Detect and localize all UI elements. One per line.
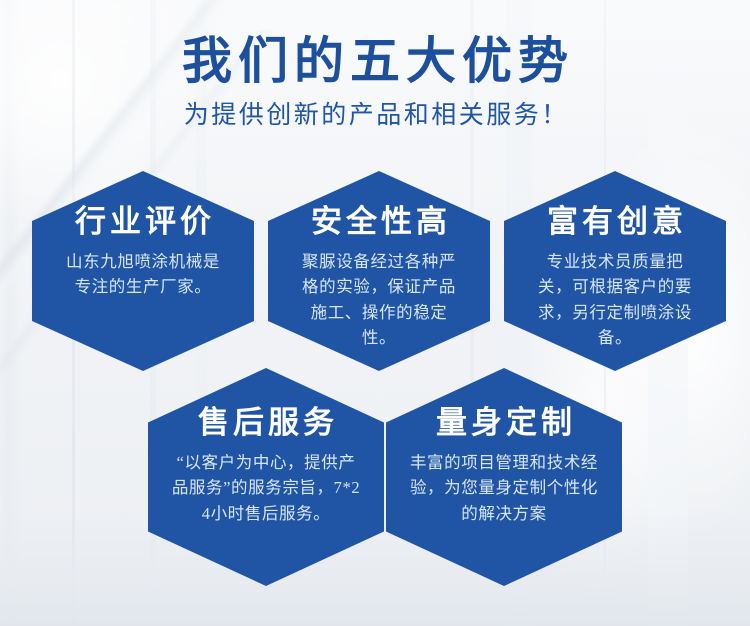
page-title: 我们的五大优势: [0, 34, 750, 88]
advantage-title: 售后服务: [194, 406, 338, 441]
advantage-description: 山东九旭喷涂机械是专注的生产厂家。: [32, 249, 254, 300]
advantage-card-tailor-made[interactable]: 量身定制 丰富的项目管理和技术经验，为您量身定制个性化的解决方案: [386, 368, 622, 586]
advantage-title: 行业评价: [71, 205, 215, 240]
banner-header: 我们的五大优势 为提供创新的产品和相关服务！: [0, 34, 750, 130]
advantage-card-content: 量身定制 丰富的项目管理和技术经验，为您量身定制个性化的解决方案: [386, 368, 622, 586]
advantage-title: 量身定制: [432, 406, 576, 441]
advantage-card-creative[interactable]: 富有创意 专业技术员质量把关，可根据客户的要求，另行定制喷涂设备。: [504, 171, 726, 371]
advantage-card-content: 行业评价 山东九旭喷涂机械是专注的生产厂家。: [32, 171, 254, 371]
advantage-description: “以客户为中心，提供产品服务”的服务宗旨，7*24小时售后服务。: [148, 450, 384, 527]
page-subtitle: 为提供创新的产品和相关服务！: [0, 100, 750, 130]
advantage-description: 专业技术员质量把关，可根据客户的要求，另行定制喷涂设备。: [504, 249, 726, 351]
advantage-card-content: 富有创意 专业技术员质量把关，可根据客户的要求，另行定制喷涂设备。: [504, 171, 726, 371]
advantage-title: 安全性高: [307, 205, 451, 240]
advantage-card-content: 售后服务 “以客户为中心，提供产品服务”的服务宗旨，7*24小时售后服务。: [148, 368, 384, 586]
advantage-description: 丰富的项目管理和技术经验，为您量身定制个性化的解决方案: [386, 450, 622, 527]
advantages-banner: 我们的五大优势 为提供创新的产品和相关服务！ 行业评价 山东九旭喷涂机械是专注的…: [0, 0, 750, 626]
advantage-description: 聚脲设备经过各种严格的实验，保证产品施工、操作的稳定性。: [268, 249, 490, 351]
advantage-card-high-safety[interactable]: 安全性高 聚脲设备经过各种严格的实验，保证产品施工、操作的稳定性。: [268, 171, 490, 371]
advantage-title: 富有创意: [543, 205, 687, 240]
advantage-card-content: 安全性高 聚脲设备经过各种严格的实验，保证产品施工、操作的稳定性。: [268, 171, 490, 371]
advantage-card-after-sales-service[interactable]: 售后服务 “以客户为中心，提供产品服务”的服务宗旨，7*24小时售后服务。: [148, 368, 384, 586]
advantage-card-industry-reputation[interactable]: 行业评价 山东九旭喷涂机械是专注的生产厂家。: [32, 171, 254, 371]
